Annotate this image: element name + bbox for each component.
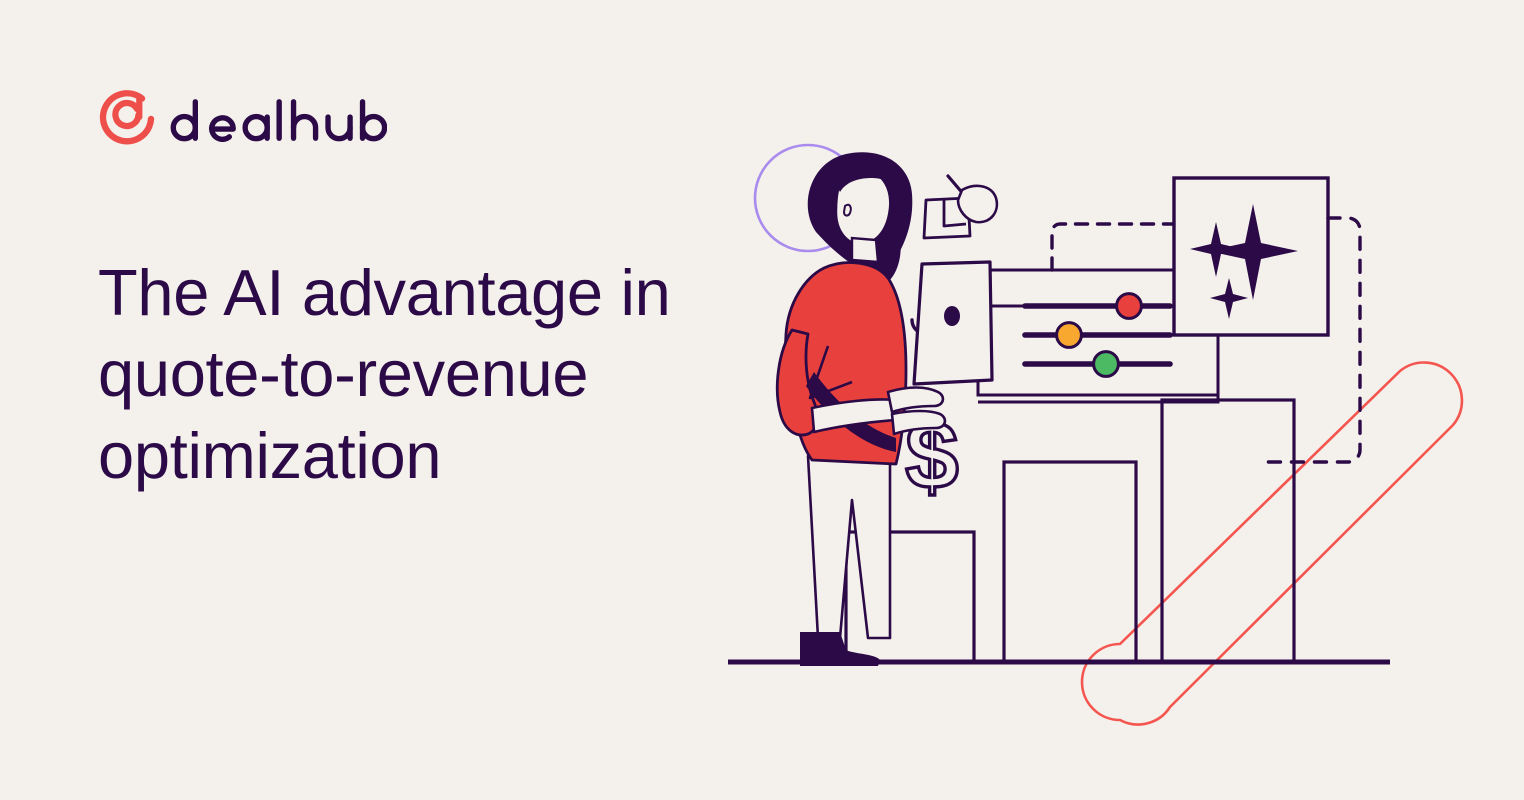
hero-illustration: $ (700, 120, 1520, 730)
slider-orange[interactable] (1025, 323, 1170, 348)
slider-handle (1094, 352, 1119, 377)
brand-logo[interactable] (96, 88, 387, 150)
page-title: The AI advantage in quote-to-revenue opt… (98, 252, 738, 496)
slider-handle (1117, 294, 1142, 319)
dealhub-wordmark (168, 96, 387, 142)
decor-capsule (1082, 363, 1462, 725)
tablet-camera-dot (944, 306, 960, 326)
banner-root: The AI advantage in quote-to-revenue opt… (0, 0, 1524, 800)
dealhub-logo-mark-icon (96, 88, 158, 150)
slider-red[interactable] (1025, 294, 1170, 319)
chart-bar-3 (1162, 400, 1294, 662)
dashed-connector-top (1052, 224, 1174, 270)
slider-green[interactable] (1025, 352, 1170, 377)
chart-bar-2 (1004, 462, 1136, 662)
person-with-tablet (777, 152, 997, 666)
slider-handle (1057, 323, 1082, 348)
ai-sparkle-tile[interactable] (1174, 178, 1328, 335)
